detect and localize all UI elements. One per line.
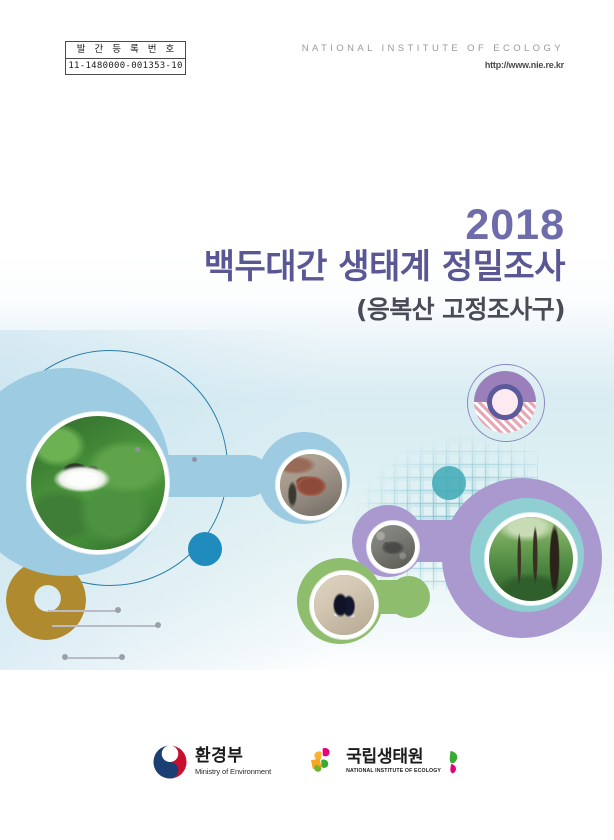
document-cover: 발 간 등 록 번 호 11-1480000-001353-10 NATIONA… [0, 0, 614, 840]
logo-ministry-of-environment: 환경부 Ministry of Environment [152, 744, 271, 780]
blue-dot-accent [188, 532, 222, 566]
photo-butterfly-dark [310, 571, 378, 639]
decorative-line-3 [67, 657, 122, 659]
footer-logos: 환경부 Ministry of Environment 국립생태원 NATION… [0, 736, 614, 788]
decorative-line-2 [52, 625, 156, 627]
ministry-logo-text: 환경부 Ministry of Environment [195, 748, 271, 776]
decorative-dot-5 [192, 457, 197, 462]
decorative-dot-6 [135, 447, 140, 452]
cover-illustration [0, 0, 614, 840]
nie-logo-text: 국립생태원 NATIONAL INSTITUTE OF ECOLOGY [346, 749, 441, 774]
photo-butterfly-on-leaf [27, 412, 169, 554]
teal-dot-accent [432, 466, 466, 500]
ministry-name-ko: 환경부 [195, 748, 271, 765]
decorative-line-dot-4 [119, 654, 125, 660]
taegeuk-icon [152, 744, 188, 780]
decorative-line-1 [48, 610, 116, 612]
photo-forest [485, 513, 577, 605]
ministry-name-en: Ministry of Environment [195, 768, 271, 776]
photo-moth-reddish [276, 450, 346, 520]
decorative-line-dot-2 [155, 622, 161, 628]
logo-national-institute-of-ecology: 국립생태원 NATIONAL INSTITUTE OF ECOLOGY [305, 745, 462, 779]
nie-name-en: NATIONAL INSTITUTE OF ECOLOGY [346, 769, 441, 774]
photo-moth-grey [367, 521, 419, 573]
decorative-line-dot-1 [115, 607, 121, 613]
nie-leaf-accent-icon [448, 749, 462, 775]
decorative-navy-ring [487, 384, 523, 420]
nie-leaf-icon [305, 745, 339, 779]
nie-name-ko: 국립생태원 [346, 749, 441, 766]
green-blob-small [388, 576, 430, 618]
